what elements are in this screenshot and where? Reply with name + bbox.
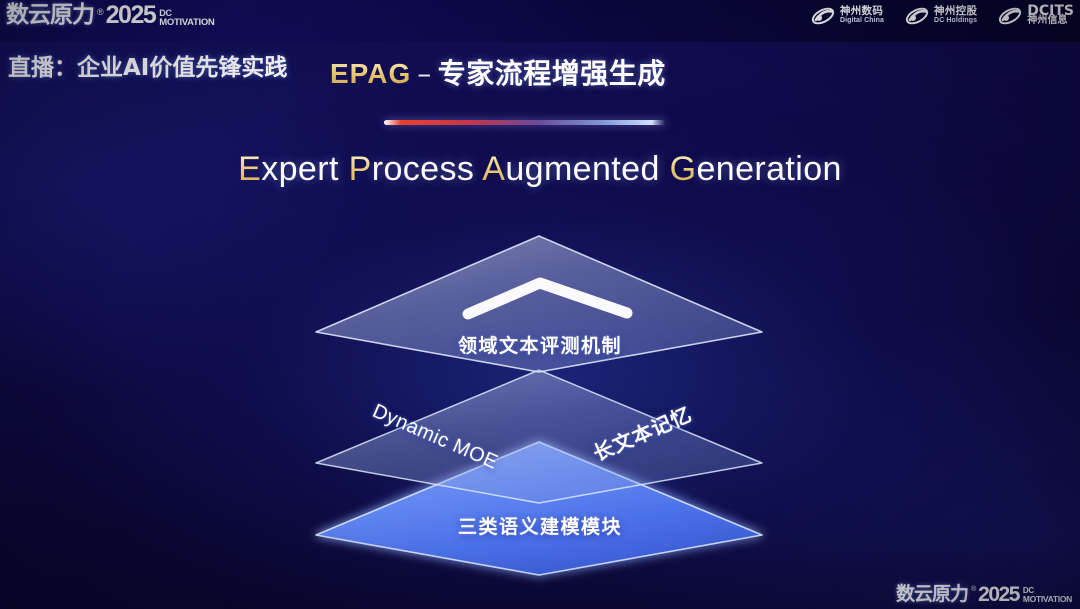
slide-stage: 领域文本评测机制 Dynamic MOE 长文本记忆 三类语义建模模块 数云原力…: [0, 0, 1080, 609]
brand-subtitle: DC MOTIVATION: [159, 9, 214, 27]
subtitle-part: ugmented: [505, 150, 669, 188]
gradient-divider: [384, 120, 666, 125]
partner-name-cn: 神州控股: [934, 6, 977, 16]
subtitle-expansion: Expert Process Augmented Generation: [0, 150, 1080, 189]
subtitle-part: E: [238, 150, 261, 188]
footer-sub-line2: MOTIVATION: [1023, 595, 1072, 604]
swirl-logo-icon: [904, 4, 930, 28]
partner-name-en: 神州信息: [1027, 16, 1074, 26]
partner-text: 神州控股 DC Holdings: [934, 6, 977, 26]
header-bar: 数云原力 ® 2025 DC MOTIVATION 神州数码 Digital C…: [0, 0, 1080, 42]
brand-year: 2025: [106, 2, 156, 28]
partner-text: 神州数码 Digital China: [840, 6, 884, 26]
topic-abbreviation: EPAG: [330, 58, 411, 89]
partner-logo-digital-china[interactable]: 神州数码 Digital China: [810, 4, 884, 28]
live-stream-title: 直播：企业AI价值先锋实践: [8, 48, 287, 82]
brand-registered-icon: ®: [97, 6, 104, 18]
brand-name-cn: 数云原力: [6, 2, 94, 28]
partner-name-cn: 神州数码: [840, 6, 884, 16]
subtitle-part: P: [349, 150, 372, 188]
diagram-label-bottom: 三类语义建模模块: [0, 512, 1080, 539]
diagram-label-top: 领域文本评测机制: [0, 331, 1080, 358]
partner-logo-dcits[interactable]: DCITS 神州信息: [997, 4, 1074, 28]
footer-subtitle: DC MOTIVATION: [1023, 586, 1072, 604]
subtitle-part: A: [482, 150, 505, 188]
brand-logo: 数云原力 ® 2025 DC MOTIVATION: [6, 2, 215, 28]
footer-name-cn: 数云原力: [896, 584, 968, 605]
footer-year: 2025: [978, 584, 1019, 605]
partner-logo-dc-holdings[interactable]: 神州控股 DC Holdings: [904, 4, 977, 28]
topic-dash: –: [417, 57, 432, 90]
partner-text: DCITS 神州信息: [1027, 6, 1074, 26]
diagram-layer-top[interactable]: [300, 230, 780, 410]
footer-registered-icon: ®: [971, 584, 976, 596]
swirl-logo-icon: [997, 4, 1023, 28]
subtitle-part: G: [670, 150, 697, 188]
subtitle-part: xpert: [261, 150, 348, 188]
subtitle-part: eneration: [696, 150, 841, 188]
swirl-logo-icon: [810, 4, 836, 28]
partner-logo-group: 神州数码 Digital China 神州控股 DC Holdings: [810, 4, 1074, 28]
subtitle-part: rocess: [372, 150, 483, 188]
brand-sub-line2: MOTIVATION: [159, 18, 214, 27]
topic-title-cn: 专家流程增强生成: [438, 57, 666, 90]
partner-name-en: DC Holdings: [934, 16, 977, 26]
partner-name-en: Digital China: [840, 16, 884, 26]
topic-title: EPAG–专家流程增强生成: [330, 52, 666, 92]
footer-watermark-logo: 数云原力 ® 2025 DC MOTIVATION: [896, 584, 1072, 605]
